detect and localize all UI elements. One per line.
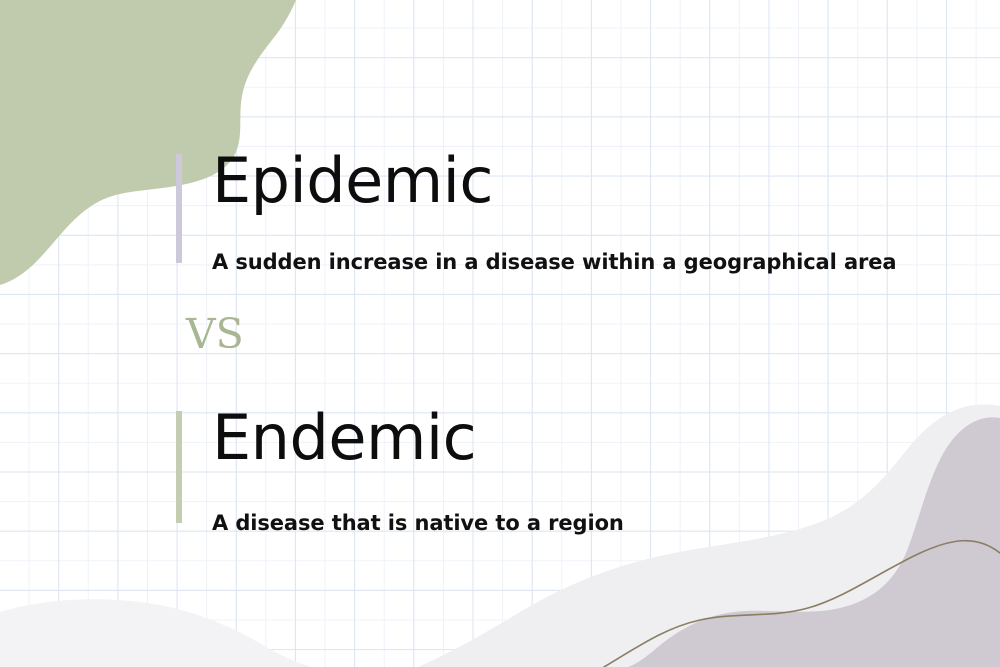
versus-separator: vs [186, 299, 244, 357]
accent-bar-epidemic [176, 154, 182, 263]
term-description-epidemic: A sudden increase in a disease within a … [212, 250, 896, 275]
term-block-endemic: Endemic A disease that is native to a re… [176, 411, 624, 536]
term-body-epidemic: Epidemic A sudden increase in a disease … [176, 150, 896, 275]
term-description-endemic: A disease that is native to a region [212, 511, 624, 536]
comparison-graphic: Epidemic A sudden increase in a disease … [0, 0, 1000, 667]
accent-bar-endemic [176, 411, 182, 523]
term-block-epidemic: Epidemic A sudden increase in a disease … [176, 154, 896, 275]
term-title-endemic: Endemic [212, 407, 624, 469]
term-title-epidemic: Epidemic [212, 150, 896, 212]
content-layer: Epidemic A sudden increase in a disease … [0, 0, 1000, 667]
term-body-endemic: Endemic A disease that is native to a re… [176, 407, 624, 536]
